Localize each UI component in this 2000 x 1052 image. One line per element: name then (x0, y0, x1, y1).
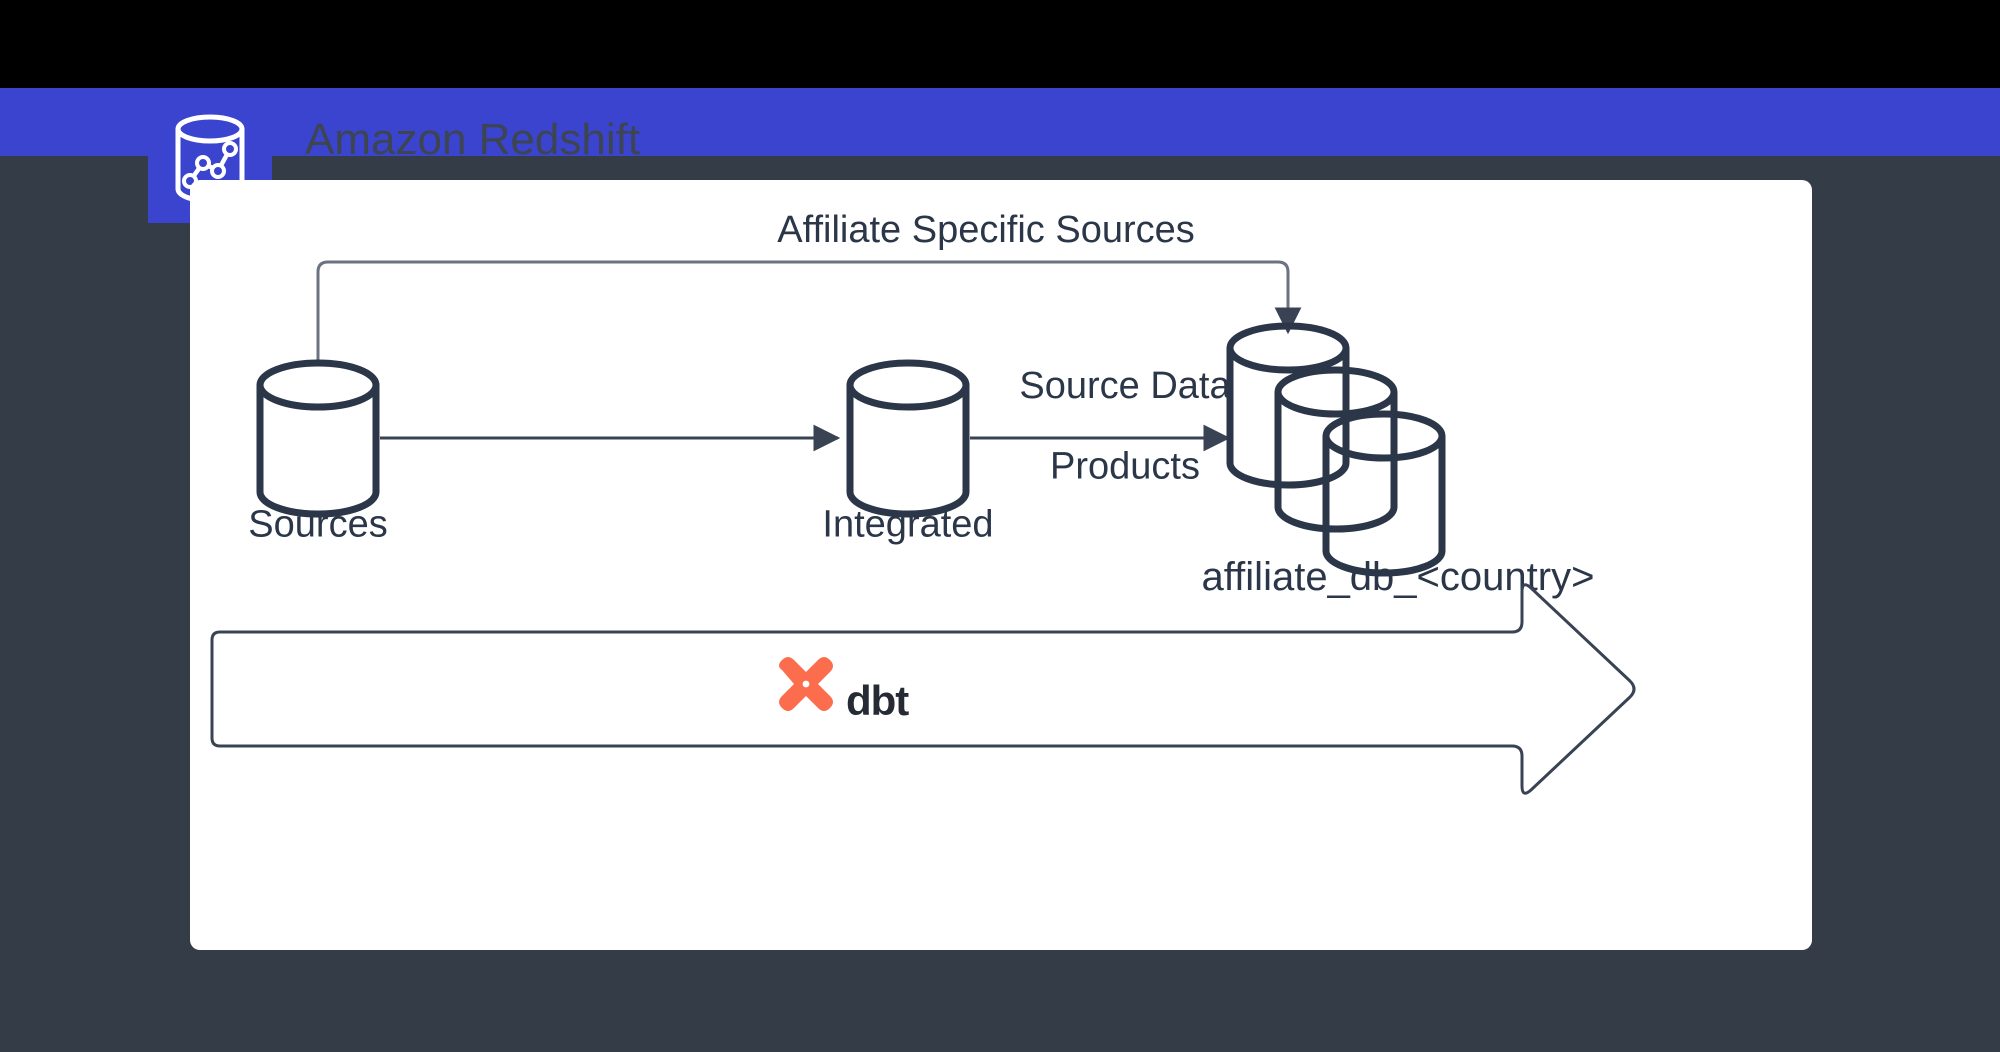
node-integrated (850, 363, 966, 514)
data-flow-diagram: Affiliate Specific Sources Sources Integ… (190, 180, 1812, 950)
screenshot-root: Amazon Redshift Affiliate Specific Sourc… (0, 0, 2000, 1052)
node-sources (260, 363, 376, 514)
node-label-sources: Sources (248, 503, 387, 545)
edge-label-affiliate-specific-sources: Affiliate Specific Sources (777, 209, 1195, 251)
edge-label-source-data: Source Data (1019, 365, 1231, 407)
page-title: Amazon Redshift (305, 115, 640, 165)
brand-banner-stripe (0, 88, 2000, 156)
edge-label-products: Products (1050, 445, 1200, 487)
dbt-wordmark: dbt (846, 677, 909, 724)
node-affiliate-db (1230, 326, 1442, 573)
diagram-card: Affiliate Specific Sources Sources Integ… (190, 180, 1812, 950)
dbt-process-banner (212, 585, 1634, 793)
node-label-integrated: Integrated (822, 503, 993, 545)
